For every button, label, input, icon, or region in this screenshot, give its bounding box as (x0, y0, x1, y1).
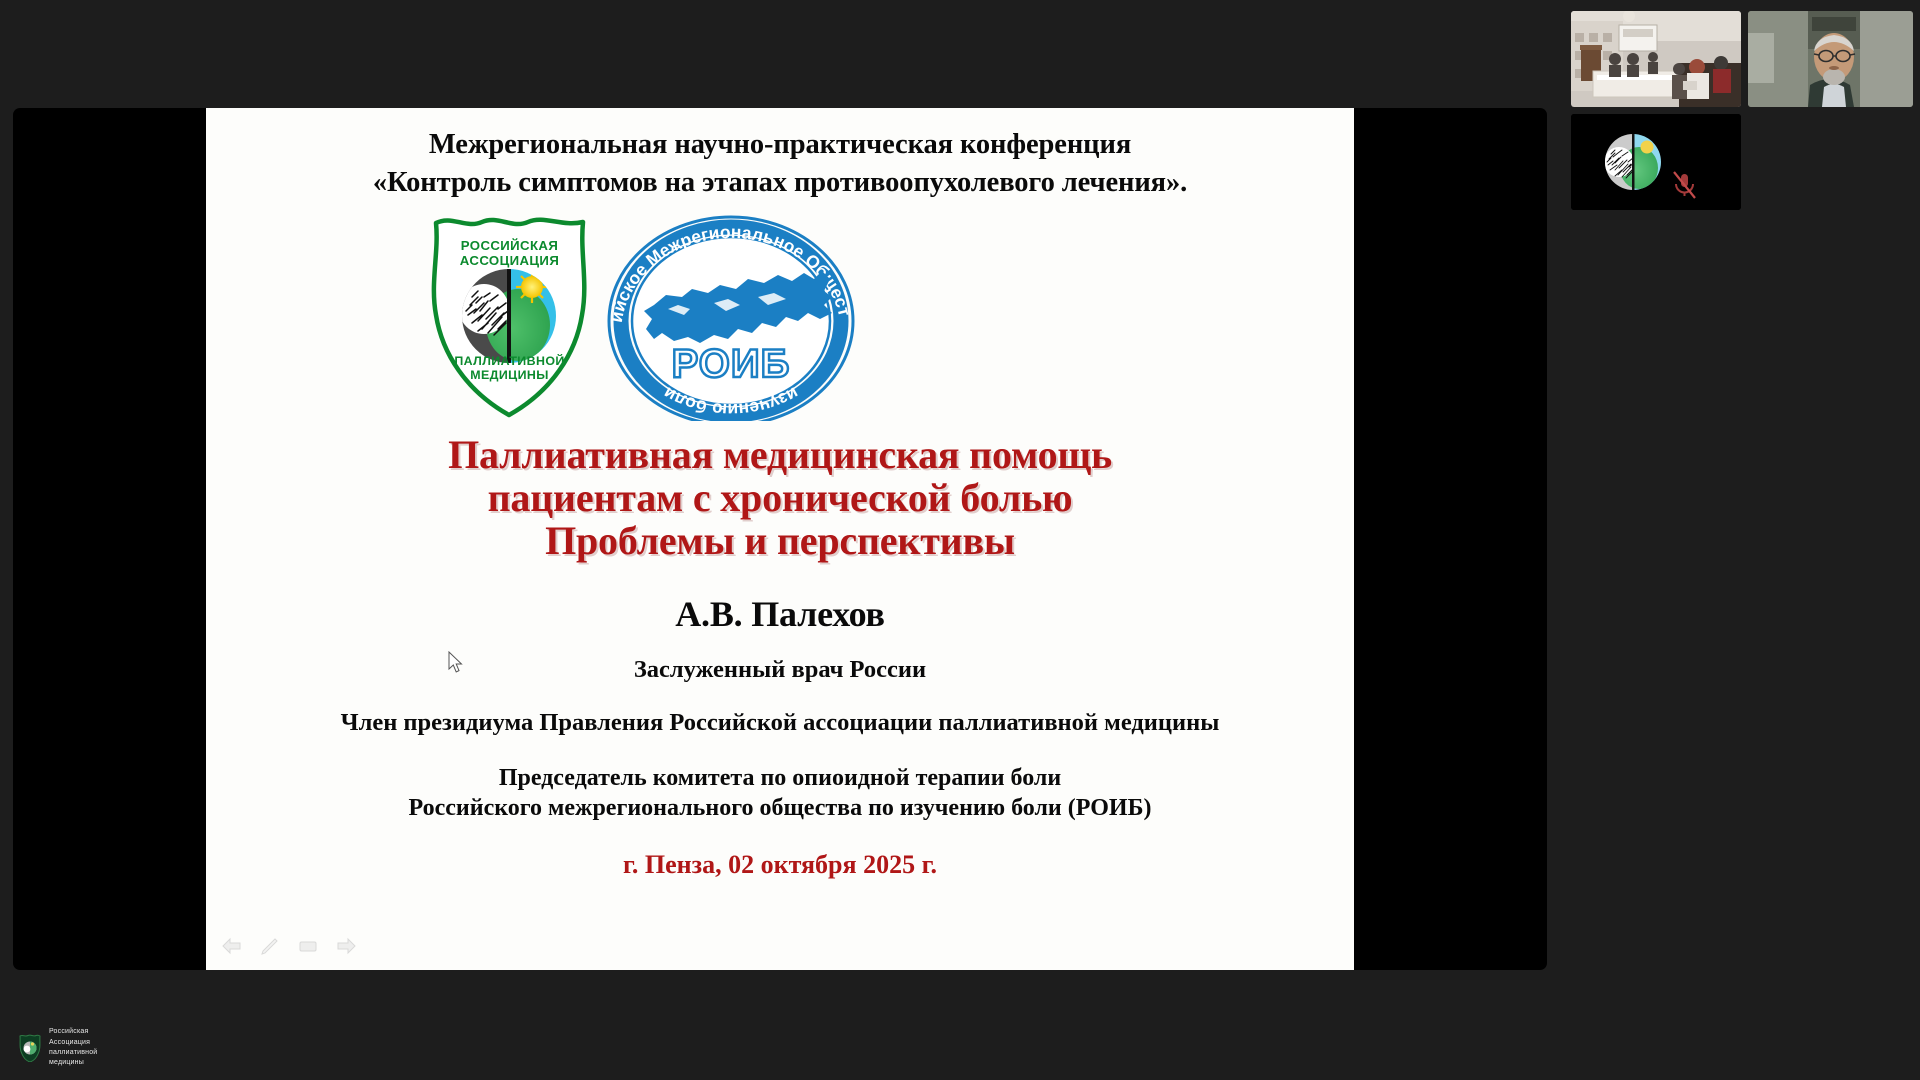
title-line-1: Паллиативная медицинская помощь (206, 434, 1354, 477)
corner-watermark: Российская Ассоциация паллиативной медиц… (18, 1027, 97, 1068)
author-credential-1: Заслуженный врач России (206, 656, 1354, 684)
slideshow-controls[interactable] (220, 934, 358, 958)
conference-line-1: Межрегиональная научно-практическая конф… (206, 126, 1354, 164)
pen-tool-icon[interactable] (258, 934, 282, 958)
watermark-text: Российская Ассоциация паллиативной медиц… (49, 1027, 97, 1068)
author-credential-2: Член президиума Правления Российской асс… (206, 709, 1354, 737)
next-slide-icon[interactable] (334, 934, 358, 958)
watermark-shield-icon (18, 1034, 42, 1062)
screen-share-stage: Межрегиональная научно-практическая конф… (0, 0, 1555, 1080)
shield-top-line-1: РОССИЙСКАЯ (422, 239, 597, 254)
watermark-line-3: паллиативной (49, 1048, 97, 1058)
slide-menu-icon[interactable] (296, 934, 320, 958)
previous-slide-icon[interactable] (220, 934, 244, 958)
credential-3-line-1: Председатель комитета по опиоидной терап… (206, 763, 1354, 794)
tile-avatar[interactable] (1571, 114, 1741, 210)
place-and-date: г. Пенза, 02 октября 2025 г. (206, 850, 1354, 880)
participant-tiles (1560, 0, 1920, 1080)
credential-3-line-2: Российского межрегионального общества по… (206, 793, 1354, 824)
author-credential-3: Председатель комитета по опиоидной терап… (206, 763, 1354, 824)
tile-speaker-webcam[interactable] (1748, 11, 1913, 107)
logos-row: РОССИЙСКАЯ АССОЦИАЦИЯ ПАЛЛИАТИВНОЙ МЕДИЦ… (206, 209, 1354, 424)
shield-top-line-2: АССОЦИАЦИЯ (422, 254, 597, 269)
roib-logo: Российское Межрегиональное Общество по и… (596, 209, 866, 421)
palliative-association-logo: РОССИЙСКАЯ АССОЦИАЦИЯ ПАЛЛИАТИВНОЙ МЕДИЦ… (422, 213, 597, 421)
watermark-line-1: Российская (49, 1027, 97, 1037)
meeting-screen: Межрегиональная научно-практическая конф… (0, 0, 1920, 1080)
mouse-cursor (448, 651, 464, 675)
watermark-line-2: Ассоциация (49, 1038, 97, 1048)
author-name: А.В. Палехов (206, 593, 1354, 635)
title-line-3: Проблемы и перспективы (206, 520, 1354, 563)
tile-conference-room[interactable] (1571, 11, 1741, 107)
avatar-video (1571, 114, 1741, 210)
title-line-2: пациентам с хронической болью (206, 477, 1354, 520)
conference-header: Межрегиональная научно-практическая конф… (206, 126, 1354, 201)
presentation-slide: Межрегиональная научно-практическая конф… (206, 108, 1354, 970)
roib-seal-icon: Российское Межрегиональное Общество по и… (596, 209, 866, 421)
conference-room-video (1571, 11, 1741, 107)
conference-line-2: «Контроль симптомов на этапах противоопу… (206, 164, 1354, 202)
shield-bottom-line-1: ПАЛЛИАТИВНОЙ (422, 355, 597, 369)
speaker-video (1748, 11, 1913, 107)
shield-top-text: РОССИЙСКАЯ АССОЦИАЦИЯ (422, 239, 597, 269)
shield-bottom-text: ПАЛЛИАТИВНОЙ МЕДИЦИНЫ (422, 355, 597, 383)
watermark-line-4: медицины (49, 1058, 97, 1068)
roib-center-text: РОИБ (672, 342, 791, 386)
shield-bottom-line-2: МЕДИЦИНЫ (422, 369, 597, 383)
slide-title: Паллиативная медицинская помощь пациента… (206, 434, 1354, 562)
